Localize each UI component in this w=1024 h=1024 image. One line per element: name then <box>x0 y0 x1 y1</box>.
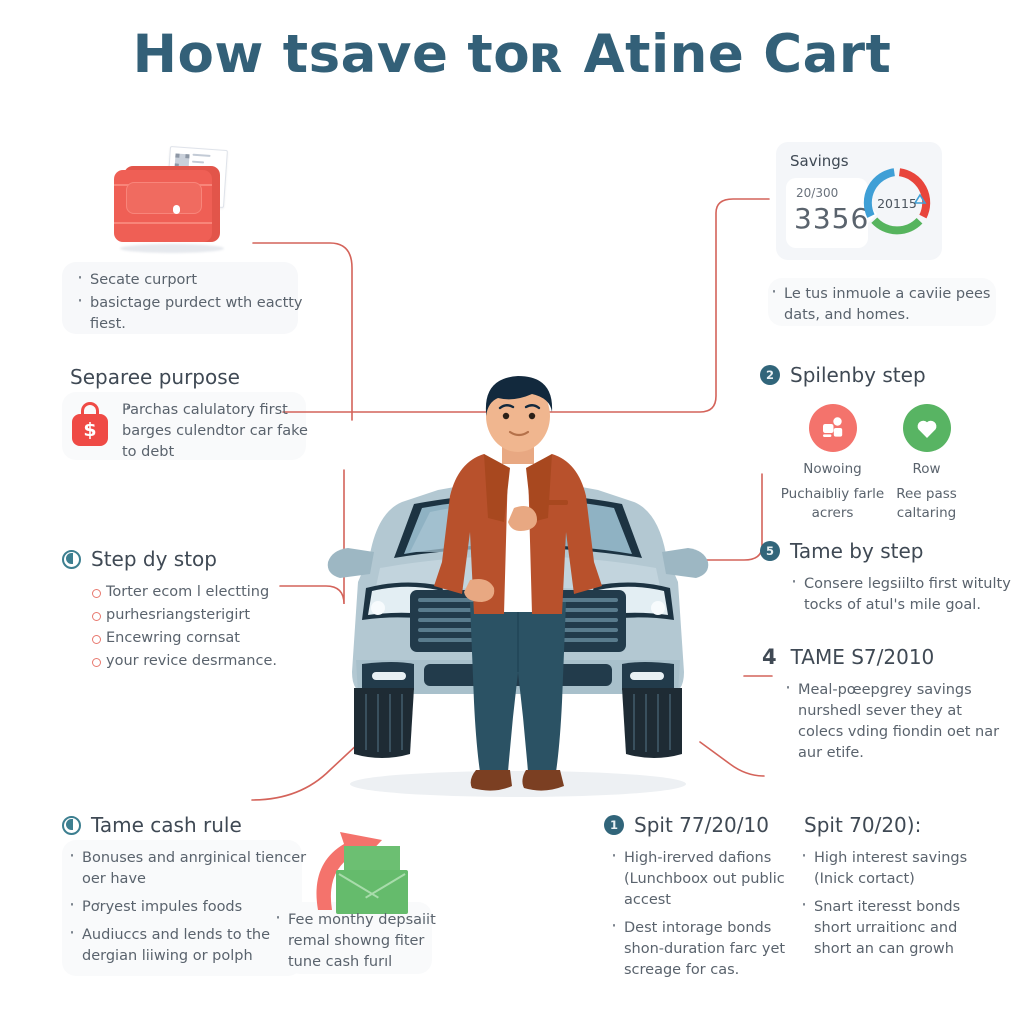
savings-card-label: Savings <box>790 152 849 170</box>
list-item: Consere legsiilto first witulty tocks of… <box>788 574 1014 616</box>
stat-caption: Puchaibliy farle acrers <box>780 485 885 523</box>
tame-37-heading: 4 TAME S7/2010 <box>762 644 1018 670</box>
list-item: your revice desrmance. <box>90 651 314 672</box>
list-item: Fee monthy depsaiit remal showng fiter t… <box>272 910 442 973</box>
lock-dollar-icon: $ <box>70 402 110 446</box>
split-77-bullet-list: High-irerved dafions (Lunchboox out publ… <box>608 848 794 981</box>
spilenby-step-heading: 2 Spilenby step <box>760 362 1010 388</box>
list-item: Torter ecom l electting <box>90 582 314 603</box>
stat-column-row: Row Ree pass caltaring <box>874 404 979 523</box>
envelope-block: Fee monthy depsaiit remal showng fiter t… <box>272 910 442 975</box>
ring-badge-icon <box>62 816 81 835</box>
list-item: Le tus inmuole a caviie pees dats, and h… <box>768 284 1002 326</box>
split-70-block: Spit 70/20): High interest savings (Inic… <box>798 812 998 967</box>
stat-column-nowoing: Nowoing Puchaibliy farle acrers <box>780 404 885 523</box>
list-item: Secate curport <box>74 270 314 291</box>
savings-note-block: Le tus inmuole a caviie pees dats, and h… <box>768 284 1008 328</box>
heading-label: TAME S7/2010 <box>791 644 935 670</box>
donut-center-label: 20115 <box>858 196 936 211</box>
separee-purpose-block: Separee purpose $ Parchas calulatory fir… <box>70 364 320 470</box>
step-number: 4 <box>762 644 777 670</box>
heading-label: Spit 77/20/10 <box>634 812 769 838</box>
list-item: Bonuses and anrginical tiencer oer have <box>66 848 312 890</box>
savings-donut-chart: 20115 <box>858 164 936 242</box>
tame-37-block: 4 TAME S7/2010 Meal-pœepgrey savings nur… <box>762 644 1018 766</box>
list-item: Meal-pœepgrey savings nurshedl sever the… <box>782 680 1006 764</box>
stat-caption: Ree pass caltaring <box>874 485 979 523</box>
heading-label: Spilenby step <box>790 362 926 388</box>
list-item: High-irerved dafions (Lunchboox out publ… <box>608 848 794 911</box>
lock-dollar-glyph: $ <box>72 414 108 446</box>
savings-ratio: 20/300 <box>796 186 838 200</box>
list-item: High interest savings (Inick cortact) <box>798 848 996 890</box>
wallet-icon <box>106 148 236 253</box>
tame-by-step-heading: 5 Tame by step <box>760 538 1016 564</box>
tame-37-bullet-list: Meal-pœepgrey savings nurshedl sever the… <box>782 680 1018 764</box>
list-item: Encewring cornsat <box>90 628 314 649</box>
heart-icon <box>903 404 951 452</box>
heading-label: Separee purpose <box>70 364 240 390</box>
infographic-canvas: How tsave toʀ Atine Cart <box>0 0 1024 1024</box>
envelope-body <box>336 870 408 914</box>
number-badge-icon: 5 <box>760 541 780 561</box>
heading-label: Tame cash rule <box>91 812 242 838</box>
tame-cash-rule-heading: Tame cash rule <box>62 812 312 838</box>
heading-label: Step dy stop <box>91 546 217 572</box>
envelope-bullet-list: Fee monthy depsaiit remal showng fiter t… <box>272 910 442 973</box>
stat-label: Row <box>874 461 979 477</box>
step-dy-stop-block: Step dy stop Torter ecom l electting pur… <box>62 546 314 674</box>
envelope-arrow-icon <box>300 818 420 918</box>
tame-by-step-bullet-list: Consere legsiilto first witulty tocks of… <box>788 574 1016 616</box>
heading-label: Tame by step <box>790 538 923 564</box>
number-badge-icon: 1 <box>604 815 624 835</box>
list-item: purhesriangsterigirt <box>90 605 314 626</box>
tame-by-step-block: 5 Tame by step Consere legsiilto first w… <box>760 538 1016 618</box>
list-item: basictage purdect wth eactty fiest. <box>74 293 314 335</box>
list-item: Parchas calulatory first barges culendto… <box>122 400 320 463</box>
number-badge-icon: 2 <box>760 365 780 385</box>
savings-amount-bubble: 20/300 3356 <box>786 178 868 248</box>
savings-note-bullet-list: Le tus inmuole a caviie pees dats, and h… <box>768 284 1008 326</box>
list-item: Snart iteresst bonds short urraitionc an… <box>798 897 996 960</box>
split-70-bullet-list: High interest savings (Inick cortact) Sn… <box>798 848 998 960</box>
page-title: How tsave toʀ Atine Cart <box>0 24 1024 86</box>
spilenby-step-block: 2 Spilenby step <box>760 362 1010 398</box>
man-standing-in-front-of-car-illustration <box>318 372 718 804</box>
heading-label: Spit 70/20): <box>804 812 921 838</box>
stat-label: Nowoing <box>780 461 885 477</box>
split-77-block: 1 Spit 77/20/10 High-irerved dafions (Lu… <box>604 812 794 988</box>
split-77-heading: 1 Spit 77/20/10 <box>604 812 794 838</box>
ring-badge-icon <box>62 550 81 569</box>
people-chart-icon <box>809 404 857 452</box>
wallet-bullet-list: Secate curport basictage purdect wth eac… <box>74 270 314 335</box>
separee-bullet-list: Parchas calulatory first barges culendto… <box>122 400 320 463</box>
list-item: Dest intorage bonds shon-duration farc y… <box>608 918 794 981</box>
savings-card: Savings 20/300 3356 20115 <box>776 142 942 260</box>
wallet-block: Secate curport basictage purdect wth eac… <box>74 270 314 337</box>
split-70-heading: Spit 70/20): <box>798 812 998 838</box>
step-dy-stop-heading: Step dy stop <box>62 546 314 572</box>
step-dy-stop-bullet-list: Torter ecom l electting purhesriangsteri… <box>90 582 314 672</box>
separee-purpose-heading: Separee purpose <box>70 364 320 390</box>
